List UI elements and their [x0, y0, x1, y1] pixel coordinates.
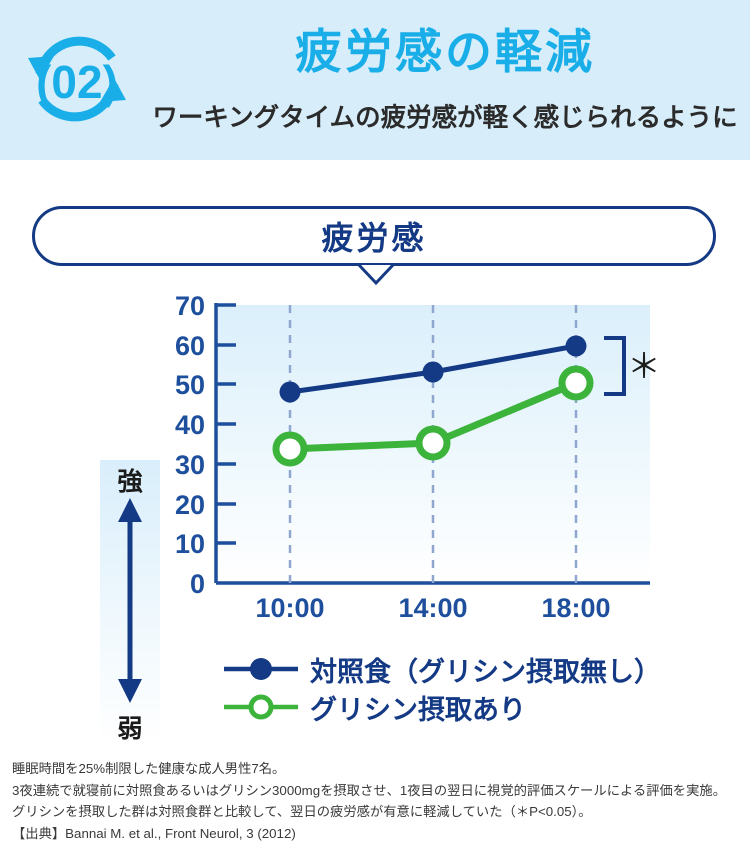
- footnote-line-2: 3夜連続で就寝前に対照食あるいはグリシン3000mgを摂取させ、1夜目の翌日に視…: [12, 780, 750, 802]
- page-title: 疲労感の軽減: [150, 26, 740, 78]
- footnote-line-3: グリシンを摂取した群は対照食群と比較して、翌日の疲労感が有意に軽減していた（＊P…: [12, 801, 750, 823]
- header-band: (02) 疲労感の軽減 ワーキングタイムの疲労感が軽く感じられるように: [0, 0, 750, 160]
- svg-text:10:00: 10:00: [255, 593, 324, 623]
- badge-number: (02): [36, 56, 118, 108]
- svg-text:20: 20: [175, 490, 205, 520]
- legend-item-glycine: グリシン摂取あり: [222, 688, 661, 726]
- svg-text:14:00: 14:00: [398, 593, 467, 623]
- cycle-arrows-icon: (02): [18, 22, 136, 137]
- footnote: 睡眠時間を25%制限した健康な成人男性7名。 3夜連続で就寝前に対照食あるいはグ…: [12, 758, 750, 844]
- legend-marker-control: [222, 656, 300, 682]
- chart-card: 疲労感 強 弱: [0, 160, 750, 740]
- legend-item-control: 対照食（グリシン摂取無し）: [222, 650, 661, 688]
- svg-text:0: 0: [190, 569, 205, 599]
- x-axis-labels: 10:00 14:00 18:00: [255, 593, 610, 623]
- footnote-line-4: 【出典】Bannai M. et al., Front Neurol, 3 (2…: [12, 823, 750, 844]
- chart-legend: 対照食（グリシン摂取無し） グリシン摂取あり: [222, 650, 661, 726]
- significance-marker: ＊: [627, 348, 661, 386]
- legend-label-glycine: グリシン摂取あり: [310, 688, 526, 727]
- svg-text:60: 60: [175, 331, 205, 361]
- svg-text:10: 10: [175, 529, 205, 559]
- footnote-line-1: 睡眠時間を25%制限した健康な成人男性7名。: [12, 758, 750, 780]
- infographic-page: (02) 疲労感の軽減 ワーキングタイムの疲労感が軽く感じられるように 疲労感 …: [0, 0, 750, 830]
- svg-text:70: 70: [175, 291, 205, 321]
- legend-label-control: 対照食（グリシン摂取無し）: [310, 650, 661, 689]
- svg-text:50: 50: [175, 370, 205, 400]
- svg-text:30: 30: [175, 450, 205, 480]
- svg-text:40: 40: [175, 410, 205, 440]
- y-axis-labels: 70 60 50 40 30 20 10 0: [175, 291, 205, 599]
- svg-text:18:00: 18:00: [541, 593, 610, 623]
- legend-marker-glycine: [222, 694, 300, 720]
- page-subtitle: ワーキングタイムの疲労感が軽く感じられるように: [140, 103, 750, 134]
